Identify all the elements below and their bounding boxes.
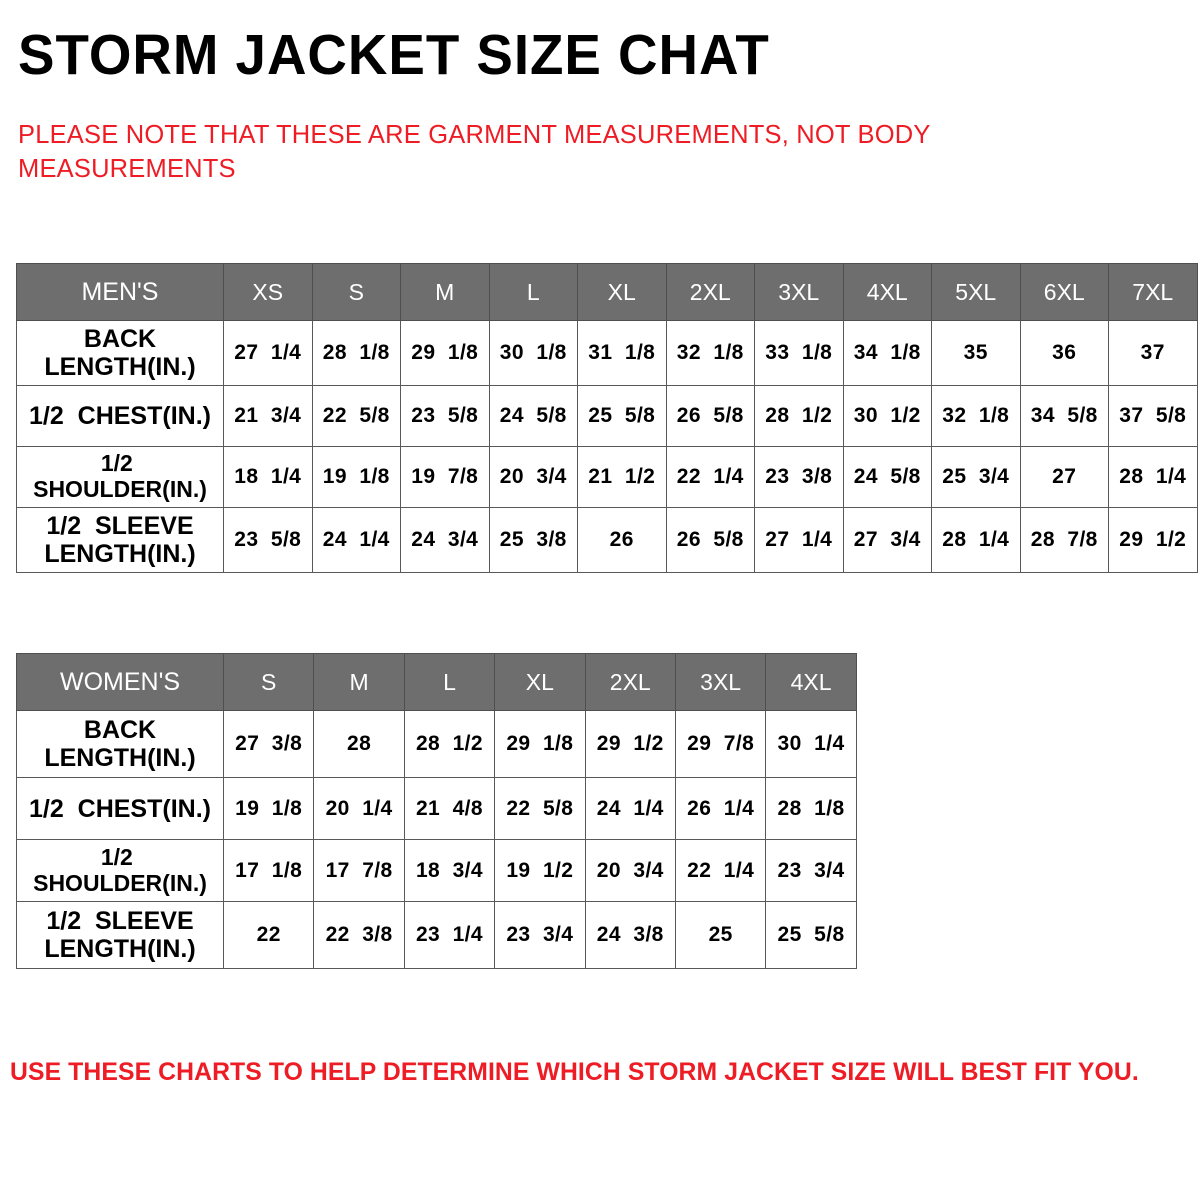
- measurement-cell: 34 5/8: [1020, 386, 1109, 447]
- measurement-cell: 18 1/4: [224, 447, 313, 508]
- measurement-cell: 28: [314, 711, 404, 778]
- table-row: 1/2 CHEST(IN.)21 3/422 5/823 5/824 5/825…: [17, 386, 1198, 447]
- measurement-cell: 28 1/2: [404, 711, 494, 778]
- mens-table-body: BACKLENGTH(IN.)27 1/428 1/829 1/830 1/83…: [17, 321, 1198, 573]
- table-row: BACKLENGTH(IN.)27 3/82828 1/229 1/829 1/…: [17, 711, 857, 778]
- measurement-cell: 35: [932, 321, 1021, 386]
- measurement-cell: 30 1/8: [489, 321, 578, 386]
- womens-header-row: WOMEN'SSMLXL2XL3XL4XL: [17, 654, 857, 711]
- mens-row-label: 1/2 SLEEVELENGTH(IN.): [17, 508, 224, 573]
- mens-corner-label: MEN'S: [17, 264, 224, 321]
- measurement-cell: 26 5/8: [666, 386, 755, 447]
- table-row: 1/2 SHOULDER(IN.)18 1/419 1/819 7/820 3/…: [17, 447, 1198, 508]
- measurement-cell: 25 5/8: [766, 902, 856, 969]
- measurement-cell: 27 1/4: [224, 321, 313, 386]
- womens-column-header: L: [404, 654, 494, 711]
- measurement-cell: 19 1/8: [224, 778, 314, 840]
- garment-measurement-note: PLEASE NOTE THAT THESE ARE GARMENT MEASU…: [18, 118, 978, 187]
- measurement-cell: 36: [1020, 321, 1109, 386]
- measurement-cell: 22 5/8: [312, 386, 401, 447]
- mens-column-header: XS: [224, 264, 313, 321]
- measurement-cell: 24 5/8: [489, 386, 578, 447]
- womens-table-header: WOMEN'SSMLXL2XL3XL4XL: [17, 654, 857, 711]
- measurement-cell: 26: [578, 508, 667, 573]
- mens-row-label: 1/2 SHOULDER(IN.): [17, 447, 224, 508]
- mens-table-header: MEN'SXSSMLXL2XL3XL4XL5XL6XL7XL: [17, 264, 1198, 321]
- measurement-cell: 29 1/8: [401, 321, 490, 386]
- measurement-cell: 23 3/8: [755, 447, 844, 508]
- measurement-cell: 33 1/8: [755, 321, 844, 386]
- mens-column-header: 2XL: [666, 264, 755, 321]
- mens-column-header: 5XL: [932, 264, 1021, 321]
- measurement-cell: 25: [675, 902, 765, 969]
- measurement-cell: 20 3/4: [489, 447, 578, 508]
- mens-size-table: MEN'SXSSMLXL2XL3XL4XL5XL6XL7XL BACKLENGT…: [16, 263, 1198, 573]
- measurement-cell: 31 1/8: [578, 321, 667, 386]
- measurement-cell: 24 1/4: [585, 778, 675, 840]
- measurement-cell: 22: [224, 902, 314, 969]
- measurement-cell: 28 1/4: [932, 508, 1021, 573]
- measurement-cell: 24 1/4: [312, 508, 401, 573]
- measurement-cell: 23 5/8: [401, 386, 490, 447]
- table-row: 1/2 CHEST(IN.)19 1/820 1/421 4/822 5/824…: [17, 778, 857, 840]
- measurement-cell: 19 7/8: [401, 447, 490, 508]
- measurement-cell: 37: [1109, 321, 1198, 386]
- measurement-cell: 28 1/4: [1109, 447, 1198, 508]
- mens-column-header: 3XL: [755, 264, 844, 321]
- mens-header-row: MEN'SXSSMLXL2XL3XL4XL5XL6XL7XL: [17, 264, 1198, 321]
- measurement-cell: 37 5/8: [1109, 386, 1198, 447]
- mens-column-header: 7XL: [1109, 264, 1198, 321]
- mens-row-label: BACKLENGTH(IN.): [17, 321, 224, 386]
- womens-column-header: S: [224, 654, 314, 711]
- mens-column-header: XL: [578, 264, 667, 321]
- table-row: 1/2 SLEEVELENGTH(IN.)2222 3/823 1/423 3/…: [17, 902, 857, 969]
- measurement-cell: 29 1/2: [585, 711, 675, 778]
- womens-size-table: WOMEN'SSMLXL2XL3XL4XL BACKLENGTH(IN.)27 …: [16, 653, 857, 969]
- womens-corner-label: WOMEN'S: [17, 654, 224, 711]
- mens-column-header: S: [312, 264, 401, 321]
- measurement-cell: 25 5/8: [578, 386, 667, 447]
- measurement-cell: 29 1/8: [495, 711, 585, 778]
- womens-column-header: 2XL: [585, 654, 675, 711]
- measurement-cell: 24 5/8: [843, 447, 932, 508]
- measurement-cell: 26 5/8: [666, 508, 755, 573]
- womens-table-body: BACKLENGTH(IN.)27 3/82828 1/229 1/829 1/…: [17, 711, 857, 969]
- table-row: 1/2 SHOULDER(IN.)17 1/817 7/818 3/419 1/…: [17, 840, 857, 902]
- measurement-cell: 32 1/8: [932, 386, 1021, 447]
- measurement-cell: 22 1/4: [675, 840, 765, 902]
- measurement-cell: 32 1/8: [666, 321, 755, 386]
- womens-column-header: XL: [495, 654, 585, 711]
- measurement-cell: 27 3/4: [843, 508, 932, 573]
- mens-column-header: M: [401, 264, 490, 321]
- measurement-cell: 19 1/8: [312, 447, 401, 508]
- measurement-cell: 28 1/2: [755, 386, 844, 447]
- measurement-cell: 19 1/2: [495, 840, 585, 902]
- measurement-cell: 25 3/4: [932, 447, 1021, 508]
- womens-column-header: 3XL: [675, 654, 765, 711]
- womens-row-label: 1/2 SLEEVELENGTH(IN.): [17, 902, 224, 969]
- measurement-cell: 20 1/4: [314, 778, 404, 840]
- size-chart-page: STORM JACKET SIZE CHAT PLEASE NOTE THAT …: [0, 0, 1200, 1200]
- measurement-cell: 23 5/8: [224, 508, 313, 573]
- measurement-cell: 30 1/2: [843, 386, 932, 447]
- table-row: BACKLENGTH(IN.)27 1/428 1/829 1/830 1/83…: [17, 321, 1198, 386]
- womens-column-header: M: [314, 654, 404, 711]
- measurement-cell: 29 1/2: [1109, 508, 1198, 573]
- measurement-cell: 23 3/4: [495, 902, 585, 969]
- measurement-cell: 28 7/8: [1020, 508, 1109, 573]
- measurement-cell: 29 7/8: [675, 711, 765, 778]
- measurement-cell: 24 3/4: [401, 508, 490, 573]
- measurement-cell: 26 1/4: [675, 778, 765, 840]
- measurement-cell: 27: [1020, 447, 1109, 508]
- measurement-cell: 20 3/4: [585, 840, 675, 902]
- mens-row-label: 1/2 CHEST(IN.): [17, 386, 224, 447]
- measurement-cell: 21 1/2: [578, 447, 667, 508]
- measurement-cell: 22 3/8: [314, 902, 404, 969]
- measurement-cell: 25 3/8: [489, 508, 578, 573]
- measurement-cell: 21 4/8: [404, 778, 494, 840]
- footer-help-note: USE THESE CHARTS TO HELP DETERMINE WHICH…: [10, 1058, 1119, 1087]
- womens-row-label: 1/2 SHOULDER(IN.): [17, 840, 224, 902]
- womens-row-label: BACKLENGTH(IN.): [17, 711, 224, 778]
- womens-row-label: 1/2 CHEST(IN.): [17, 778, 224, 840]
- womens-column-header: 4XL: [766, 654, 856, 711]
- mens-column-header: 4XL: [843, 264, 932, 321]
- measurement-cell: 23 3/4: [766, 840, 856, 902]
- mens-column-header: 6XL: [1020, 264, 1109, 321]
- mens-column-header: L: [489, 264, 578, 321]
- measurement-cell: 27 1/4: [755, 508, 844, 573]
- table-row: 1/2 SLEEVELENGTH(IN.)23 5/824 1/424 3/42…: [17, 508, 1198, 573]
- measurement-cell: 24 3/8: [585, 902, 675, 969]
- measurement-cell: 18 3/4: [404, 840, 494, 902]
- measurement-cell: 17 1/8: [224, 840, 314, 902]
- page-title: STORM JACKET SIZE CHAT: [18, 22, 770, 88]
- measurement-cell: 22 5/8: [495, 778, 585, 840]
- measurement-cell: 34 1/8: [843, 321, 932, 386]
- measurement-cell: 22 1/4: [666, 447, 755, 508]
- measurement-cell: 28 1/8: [312, 321, 401, 386]
- measurement-cell: 23 1/4: [404, 902, 494, 969]
- measurement-cell: 27 3/8: [224, 711, 314, 778]
- measurement-cell: 28 1/8: [766, 778, 856, 840]
- measurement-cell: 30 1/4: [766, 711, 856, 778]
- measurement-cell: 21 3/4: [224, 386, 313, 447]
- measurement-cell: 17 7/8: [314, 840, 404, 902]
